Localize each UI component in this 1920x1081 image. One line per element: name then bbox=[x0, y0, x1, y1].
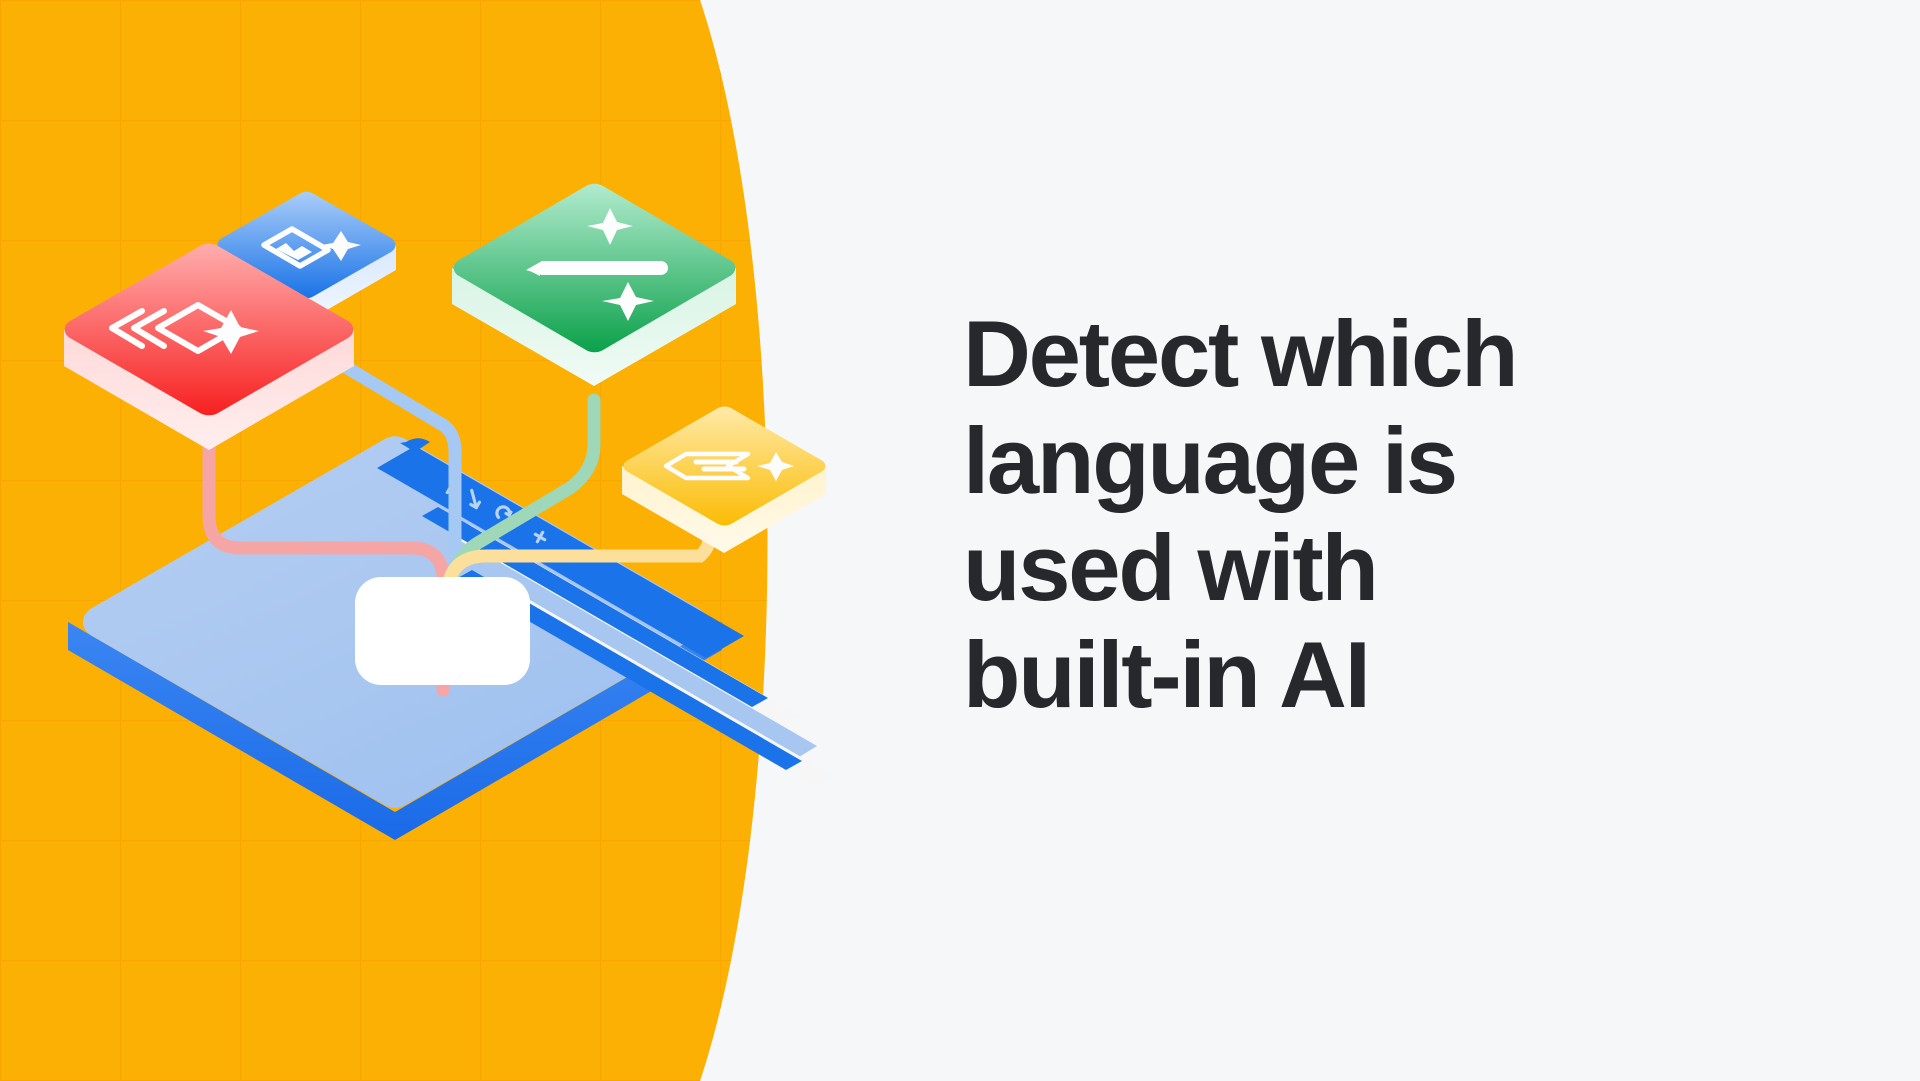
headline-line-3: used with bbox=[963, 514, 1793, 621]
page-title: Detect which language is used with built… bbox=[963, 300, 1793, 728]
slide-canvas: Detect which language is used with built… bbox=[0, 0, 1920, 1081]
hero-panel-fill bbox=[0, 0, 900, 1081]
headline-line-1: Detect which bbox=[963, 300, 1793, 407]
headline-line-4: built-in AI bbox=[963, 621, 1793, 728]
hero-orange-panel bbox=[0, 0, 900, 1081]
headline-line-2: language is bbox=[963, 407, 1793, 514]
